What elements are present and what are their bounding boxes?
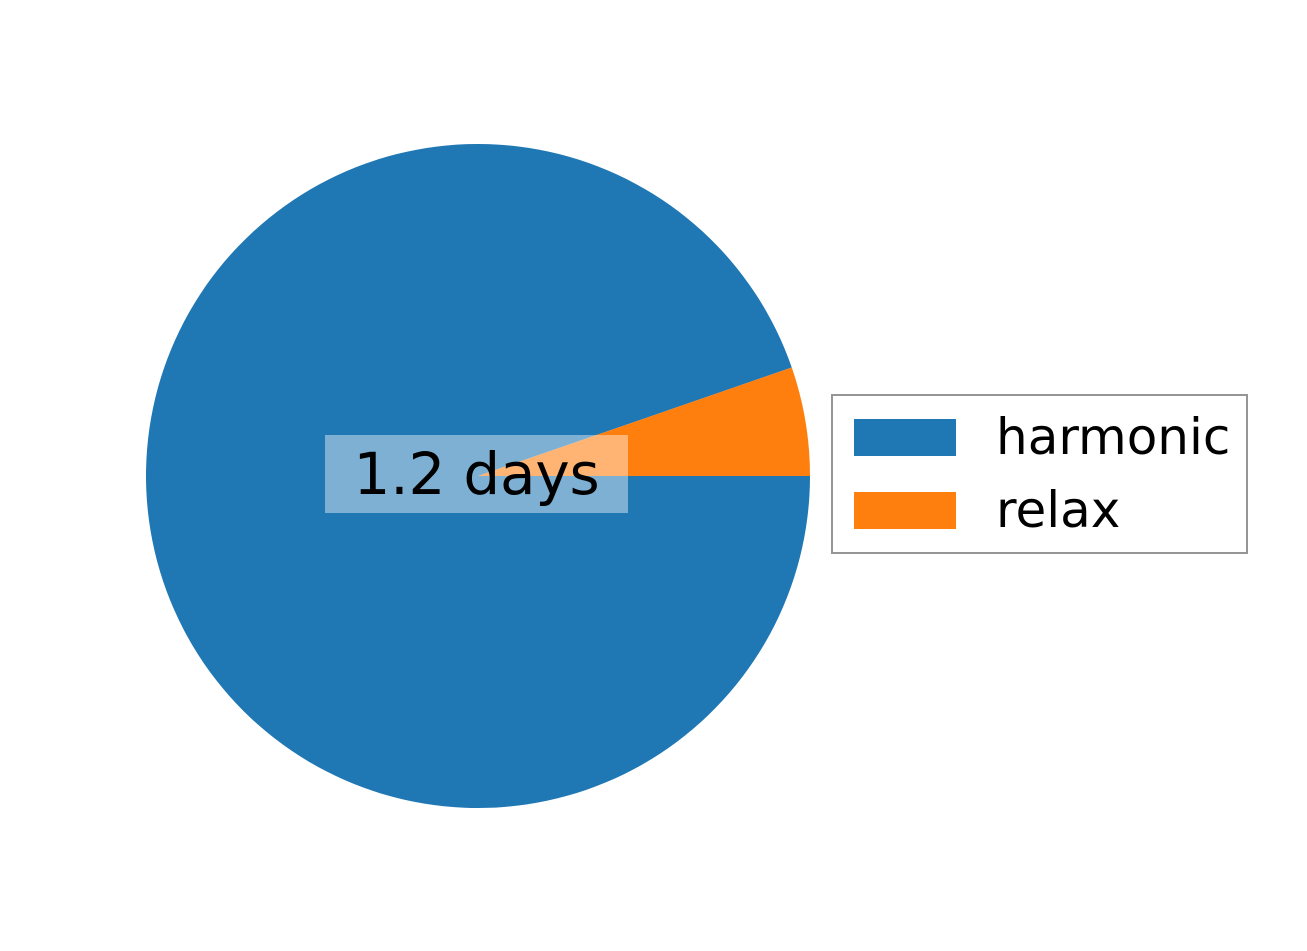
legend-label-harmonic: harmonic (996, 412, 1230, 462)
figure-canvas: 1.2 days harmonic relax (0, 0, 1307, 951)
legend-label-relax: relax (996, 485, 1120, 535)
legend: harmonic relax (831, 394, 1248, 554)
pie-slices (146, 144, 810, 808)
legend-item-harmonic[interactable]: harmonic (854, 407, 1230, 467)
legend-swatch-relax (854, 492, 956, 529)
legend-item-relax[interactable]: relax (854, 480, 1120, 540)
legend-swatch-harmonic (854, 419, 956, 456)
